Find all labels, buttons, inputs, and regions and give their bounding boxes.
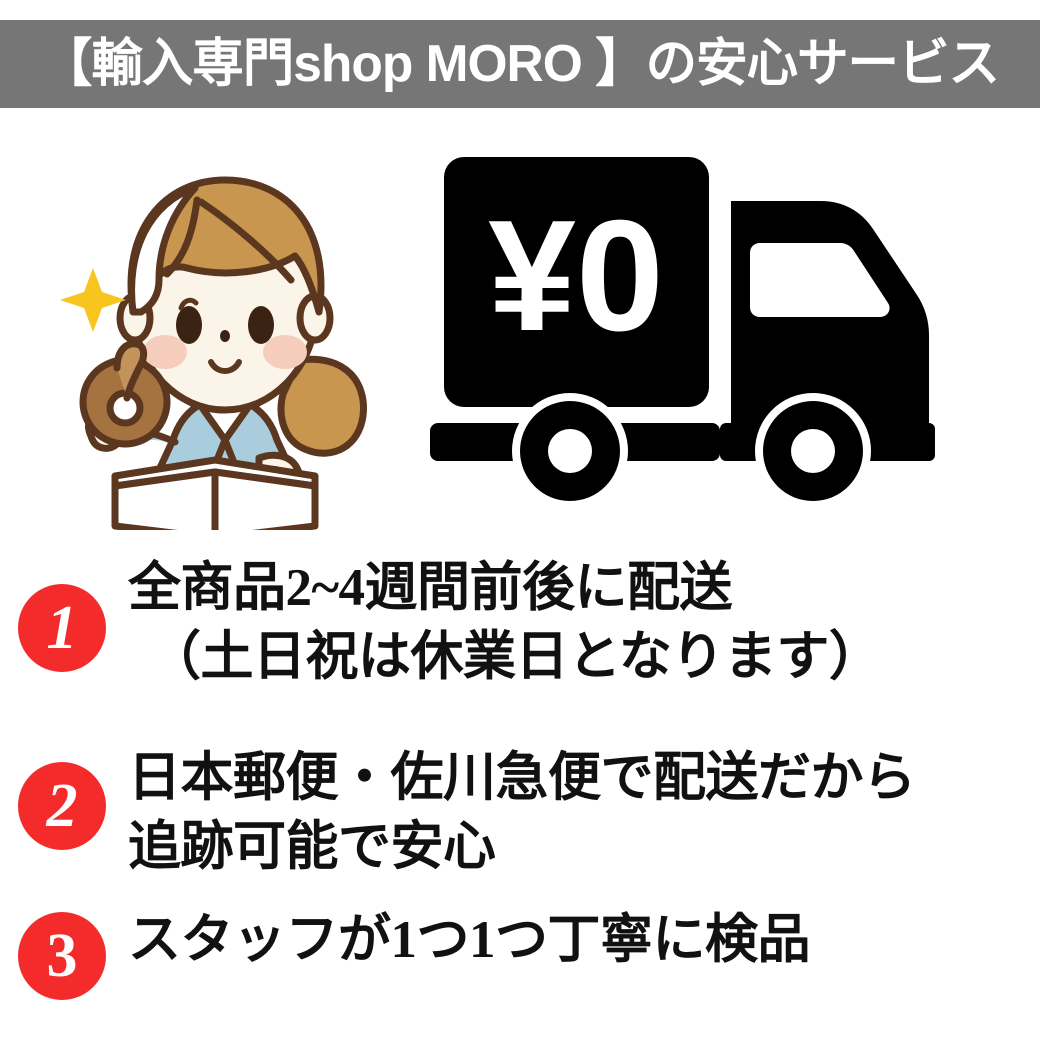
feature-item-2: 2 日本郵便・佐川急便で配送だから 追跡可能で安心 [0,744,1040,894]
delivery-truck-icon: ¥0 [418,145,1028,520]
feature-item-1: 1 全商品2~4週間前後に配送 （土日祝は休業日となります） [0,554,1040,704]
feature-text-1-line-2: （土日祝は休業日となります） [128,623,1040,692]
feature-badge-3: 3 [18,912,106,1000]
feature-text-3: スタッフが1つ1つ丁寧に検品 [128,906,1040,975]
feature-text-3-line-1: スタッフが1つ1つ丁寧に検品 [128,906,1040,975]
feature-badge-1: 1 [18,584,106,672]
feature-text-2-line-2: 追跡可能で安心 [128,813,1040,882]
header-banner: 【輸入専門shop MORO 】の安心サービス [0,20,1040,108]
feature-text-1-line-1: 全商品2~4週間前後に配送 [128,554,1040,623]
feature-text-1: 全商品2~4週間前後に配送 （土日祝は休業日となります） [128,554,1040,692]
woman-packing-box-illustration [55,140,395,530]
feature-text-2-line-1: 日本郵便・佐川急便で配送だから [128,744,1040,813]
illustration-area: ¥0 [0,120,1040,540]
truck-cargo-label: ¥0 [488,188,664,364]
feature-list: 1 全商品2~4週間前後に配送 （土日祝は休業日となります） 2 日本郵便・佐川… [0,548,1040,1040]
feature-text-2: 日本郵便・佐川急便で配送だから 追跡可能で安心 [128,744,1040,882]
feature-badge-2: 2 [18,762,106,850]
sparkle-icon [60,268,126,332]
feature-item-3: 3 スタッフが1つ1つ丁寧に検品 [0,906,1040,1016]
page-title: 【輸入専門shop MORO 】の安心サービス [41,38,999,90]
